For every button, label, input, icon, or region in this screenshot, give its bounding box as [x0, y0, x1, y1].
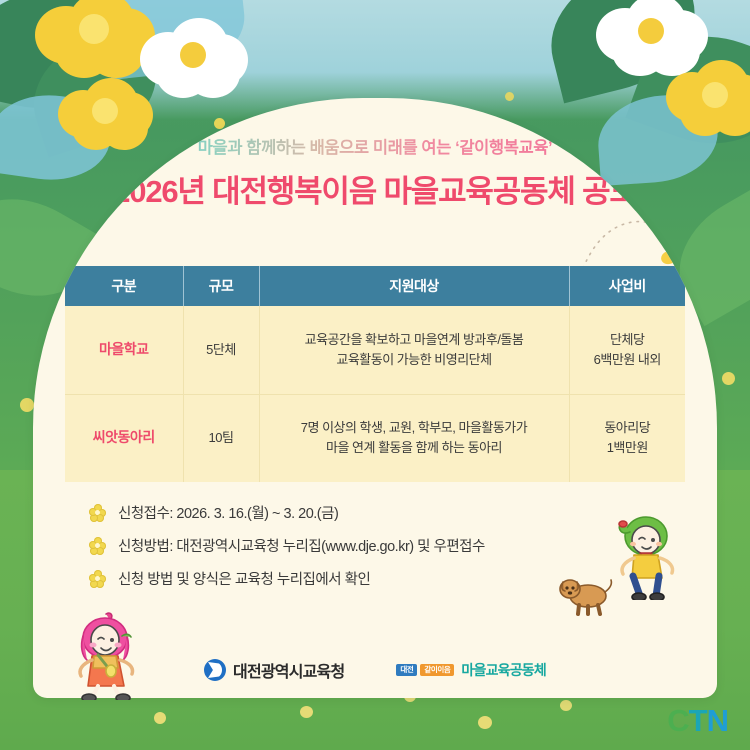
header-category: 구분: [65, 266, 183, 306]
logo-village-label: 마을교육공동체: [461, 660, 546, 680]
table-row: 씨앗동아리 10팀 7명 이상의 학생, 교원, 학부모, 마을활동가가 마을 …: [65, 394, 685, 482]
flower-icon: [89, 537, 106, 554]
flower-icon: [89, 504, 106, 521]
cell-target: 7명 이상의 학생, 교원, 학부모, 마을활동가가 마을 연계 활동을 함께 …: [259, 394, 569, 482]
cell-budget-line1: 동아리당: [570, 418, 686, 438]
flower-icon: [89, 570, 106, 587]
dje-globe-icon: [204, 659, 226, 681]
header-scale: 규모: [183, 266, 259, 306]
header-budget: 사업비: [569, 266, 685, 306]
poster-title: 2026년 대전행복이음 마을교육공동체 공모: [33, 166, 717, 211]
cell-scale: 5단체: [183, 306, 259, 394]
girl-character-illustration: [62, 608, 148, 700]
logo-edu-label: 대전광역시교육청: [233, 658, 344, 682]
poster-subtitle: 마을과 함께하는 배움으로 미래를 여는 ‘같이행복교육’: [33, 134, 717, 158]
cell-budget-line2: 6백만원 내외: [570, 350, 686, 370]
petal-dot: [722, 372, 735, 385]
cell-budget: 동아리당 1백만원: [569, 394, 685, 482]
logo-chip-gathi: 같이이음: [420, 664, 454, 676]
cell-category: 마을학교: [65, 306, 183, 394]
flower-decoration: [140, 18, 248, 102]
bee-path-icon: [581, 210, 691, 272]
cell-category: 씨앗동아리: [65, 394, 183, 482]
cell-target-line2: 마을 연계 활동을 함께 하는 동아리: [260, 438, 569, 458]
logo-chip-daejeon: 대전: [396, 664, 417, 676]
logo-village-education-community: 대전 같이이음 마을교육공동체: [396, 660, 546, 680]
table-body: 마을학교 5단체 교육공간을 확보하고 마을연계 방과후/돌봄 교육활동이 가능…: [65, 306, 685, 482]
table-row: 마을학교 5단체 교육공간을 확보하고 마을연계 방과후/돌봄 교육활동이 가능…: [65, 306, 685, 394]
cell-target-line1: 7명 이상의 학생, 교원, 학부모, 마을활동가가: [260, 418, 569, 438]
list-item-label: 신청방법: 대전광역시교육청 누리집(www.dje.go.kr) 및 우편접수: [118, 535, 485, 556]
ctn-letter-c: C: [667, 703, 688, 738]
logo-dje-education-office: 대전광역시교육청: [204, 658, 344, 682]
petal-dot: [154, 712, 166, 724]
cell-budget: 단체당 6백만원 내외: [569, 306, 685, 394]
cell-budget-line1: 단체당: [570, 330, 686, 350]
ctn-letter-n: N: [707, 703, 728, 738]
flower-decoration: [35, 0, 155, 80]
cell-target-line2: 교육활동이 가능한 비영리단체: [260, 350, 569, 370]
petal-dot: [478, 716, 492, 729]
list-item-label: 신청접수: 2026. 3. 16.(월) ~ 3. 20.(금): [118, 502, 338, 523]
cell-target: 교육공간을 확보하고 마을연계 방과후/돌봄 교육활동이 가능한 비영리단체: [259, 306, 569, 394]
ctn-watermark: CTN: [667, 705, 728, 736]
table-head: 구분 규모 지원대상 사업비: [65, 266, 685, 306]
cell-scale: 10팀: [183, 394, 259, 482]
program-table: 구분 규모 지원대상 사업비 마을학교 5단체 교육공간을 확보하고 마을연계 …: [65, 266, 685, 482]
dog-character-illustration: [558, 572, 618, 616]
list-item: 신청접수: 2026. 3. 16.(월) ~ 3. 20.(금): [89, 496, 649, 529]
ctn-letter-t: T: [689, 703, 707, 738]
header-target: 지원대상: [259, 266, 569, 306]
list-item: 신청방법: 대전광역시교육청 누리집(www.dje.go.kr) 및 우편접수: [89, 529, 649, 562]
petal-dot: [20, 398, 34, 412]
cell-budget-line2: 1백만원: [570, 438, 686, 458]
bee-decoration: [581, 210, 691, 272]
table-header-row: 구분 규모 지원대상 사업비: [65, 266, 685, 306]
poster-canvas: 마을과 함께하는 배움으로 미래를 여는 ‘같이행복교육’ 2026년 대전행복…: [0, 0, 750, 750]
cell-target-line1: 교육공간을 확보하고 마을연계 방과후/돌봄: [260, 330, 569, 350]
list-item-label: 신청 방법 및 양식은 교육청 누리집에서 확인: [118, 568, 370, 589]
boy-character-illustration: [610, 508, 682, 600]
petal-dot: [300, 706, 313, 718]
petal-dot: [560, 700, 572, 711]
